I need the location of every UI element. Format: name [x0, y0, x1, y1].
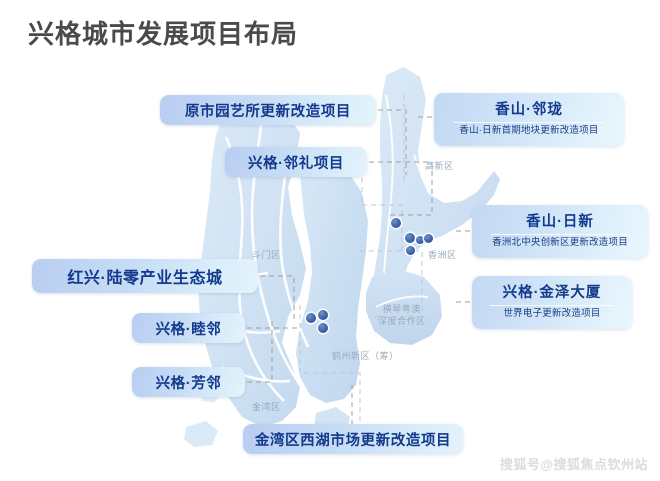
project-marker-1[interactable]: [391, 218, 401, 228]
map-land-central: [296, 163, 368, 403]
district-label-hengqin: 横琴粤澳 深度合作区: [378, 303, 426, 327]
district-label-hezhou: 鹤州新区（筹）: [332, 350, 399, 362]
callout-xiangshan-rixin-title: 香山·日新: [526, 213, 594, 232]
callout-yuanshi-yuanyisuo-label: 原市园艺所更新改造项目: [185, 100, 351, 121]
watermark-ghost-text: 搜狐号@搜狐焦点钦州站: [500, 457, 648, 472]
district-label-hengqin-line2: 深度合作区: [378, 315, 426, 327]
callout-xingge-mulin-label: 兴格·睦邻: [156, 318, 222, 339]
callout-xiangshan-rixin[interactable]: 香山·日新 香洲北中央创新区更新改造项目: [472, 205, 648, 258]
callout-xingge-jinze-subtitle: 世界电子更新改造项目: [503, 308, 600, 320]
callout-xingge-fanglin-label: 兴格·芳邻: [156, 372, 222, 393]
card-divider: [490, 305, 613, 306]
project-marker-7[interactable]: [318, 310, 328, 320]
card-divider: [454, 122, 604, 123]
callout-xiangshan-linglong-subtitle: 香山·日新首期地块更新改造项目: [459, 125, 598, 137]
callout-xingge-jinze[interactable]: 兴格·金泽大厦 世界电子更新改造项目: [472, 276, 632, 329]
district-label-hengqin-line1: 横琴粤澳: [378, 303, 426, 315]
callout-xiangshan-linglong-title: 香山·邻珑: [495, 101, 563, 120]
page-title: 兴格城市发展项目布局: [28, 14, 298, 51]
district-label-xiangzhou: 香洲区: [428, 249, 457, 261]
district-label-jinwan: 金湾区: [252, 401, 281, 413]
watermark: 搜狐号@搜狐焦点钦州站: [500, 454, 648, 473]
project-marker-2[interactable]: [405, 233, 415, 243]
callout-hongxing-luling[interactable]: 红兴·陆零产业生态城: [32, 259, 258, 293]
project-marker-5[interactable]: [406, 246, 415, 255]
callout-xingge-fanglin[interactable]: 兴格·芳邻: [132, 367, 245, 397]
map-island-small-b: [184, 421, 218, 447]
project-marker-8[interactable]: [318, 323, 328, 333]
project-marker-6[interactable]: [306, 313, 316, 323]
callout-hongxing-luling-label: 红兴·陆零产业生态城: [67, 264, 222, 288]
district-label-gaoxin: 高新区: [425, 160, 454, 172]
project-marker-3[interactable]: [416, 236, 424, 244]
callout-xiangshan-linglong[interactable]: 香山·邻珑 香山·日新首期地块更新改造项目: [434, 93, 624, 146]
project-marker-4[interactable]: [424, 234, 433, 243]
callout-xingge-lingli-label: 兴格·邻礼项目: [248, 152, 344, 173]
callout-xiangshan-rixin-subtitle: 香洲北中央创新区更新改造项目: [492, 237, 628, 249]
callout-xingge-mulin[interactable]: 兴格·睦邻: [132, 313, 245, 343]
callout-xingge-jinze-title: 兴格·金泽大厦: [503, 284, 602, 303]
callout-jinwan-xihu[interactable]: 金湾区西湖市场更新改造项目: [243, 424, 463, 454]
callout-jinwan-xihu-label: 金湾区西湖市场更新改造项目: [255, 429, 451, 450]
district-label-doumen: 斗门区: [252, 249, 281, 261]
infographic-canvas: 兴格城市发展项目布局: [0, 0, 660, 481]
callout-xingge-lingli[interactable]: 兴格·邻礼项目: [225, 147, 367, 177]
card-divider: [491, 234, 628, 235]
callout-yuanshi-yuanyisuo[interactable]: 原市园艺所更新改造项目: [160, 95, 376, 125]
